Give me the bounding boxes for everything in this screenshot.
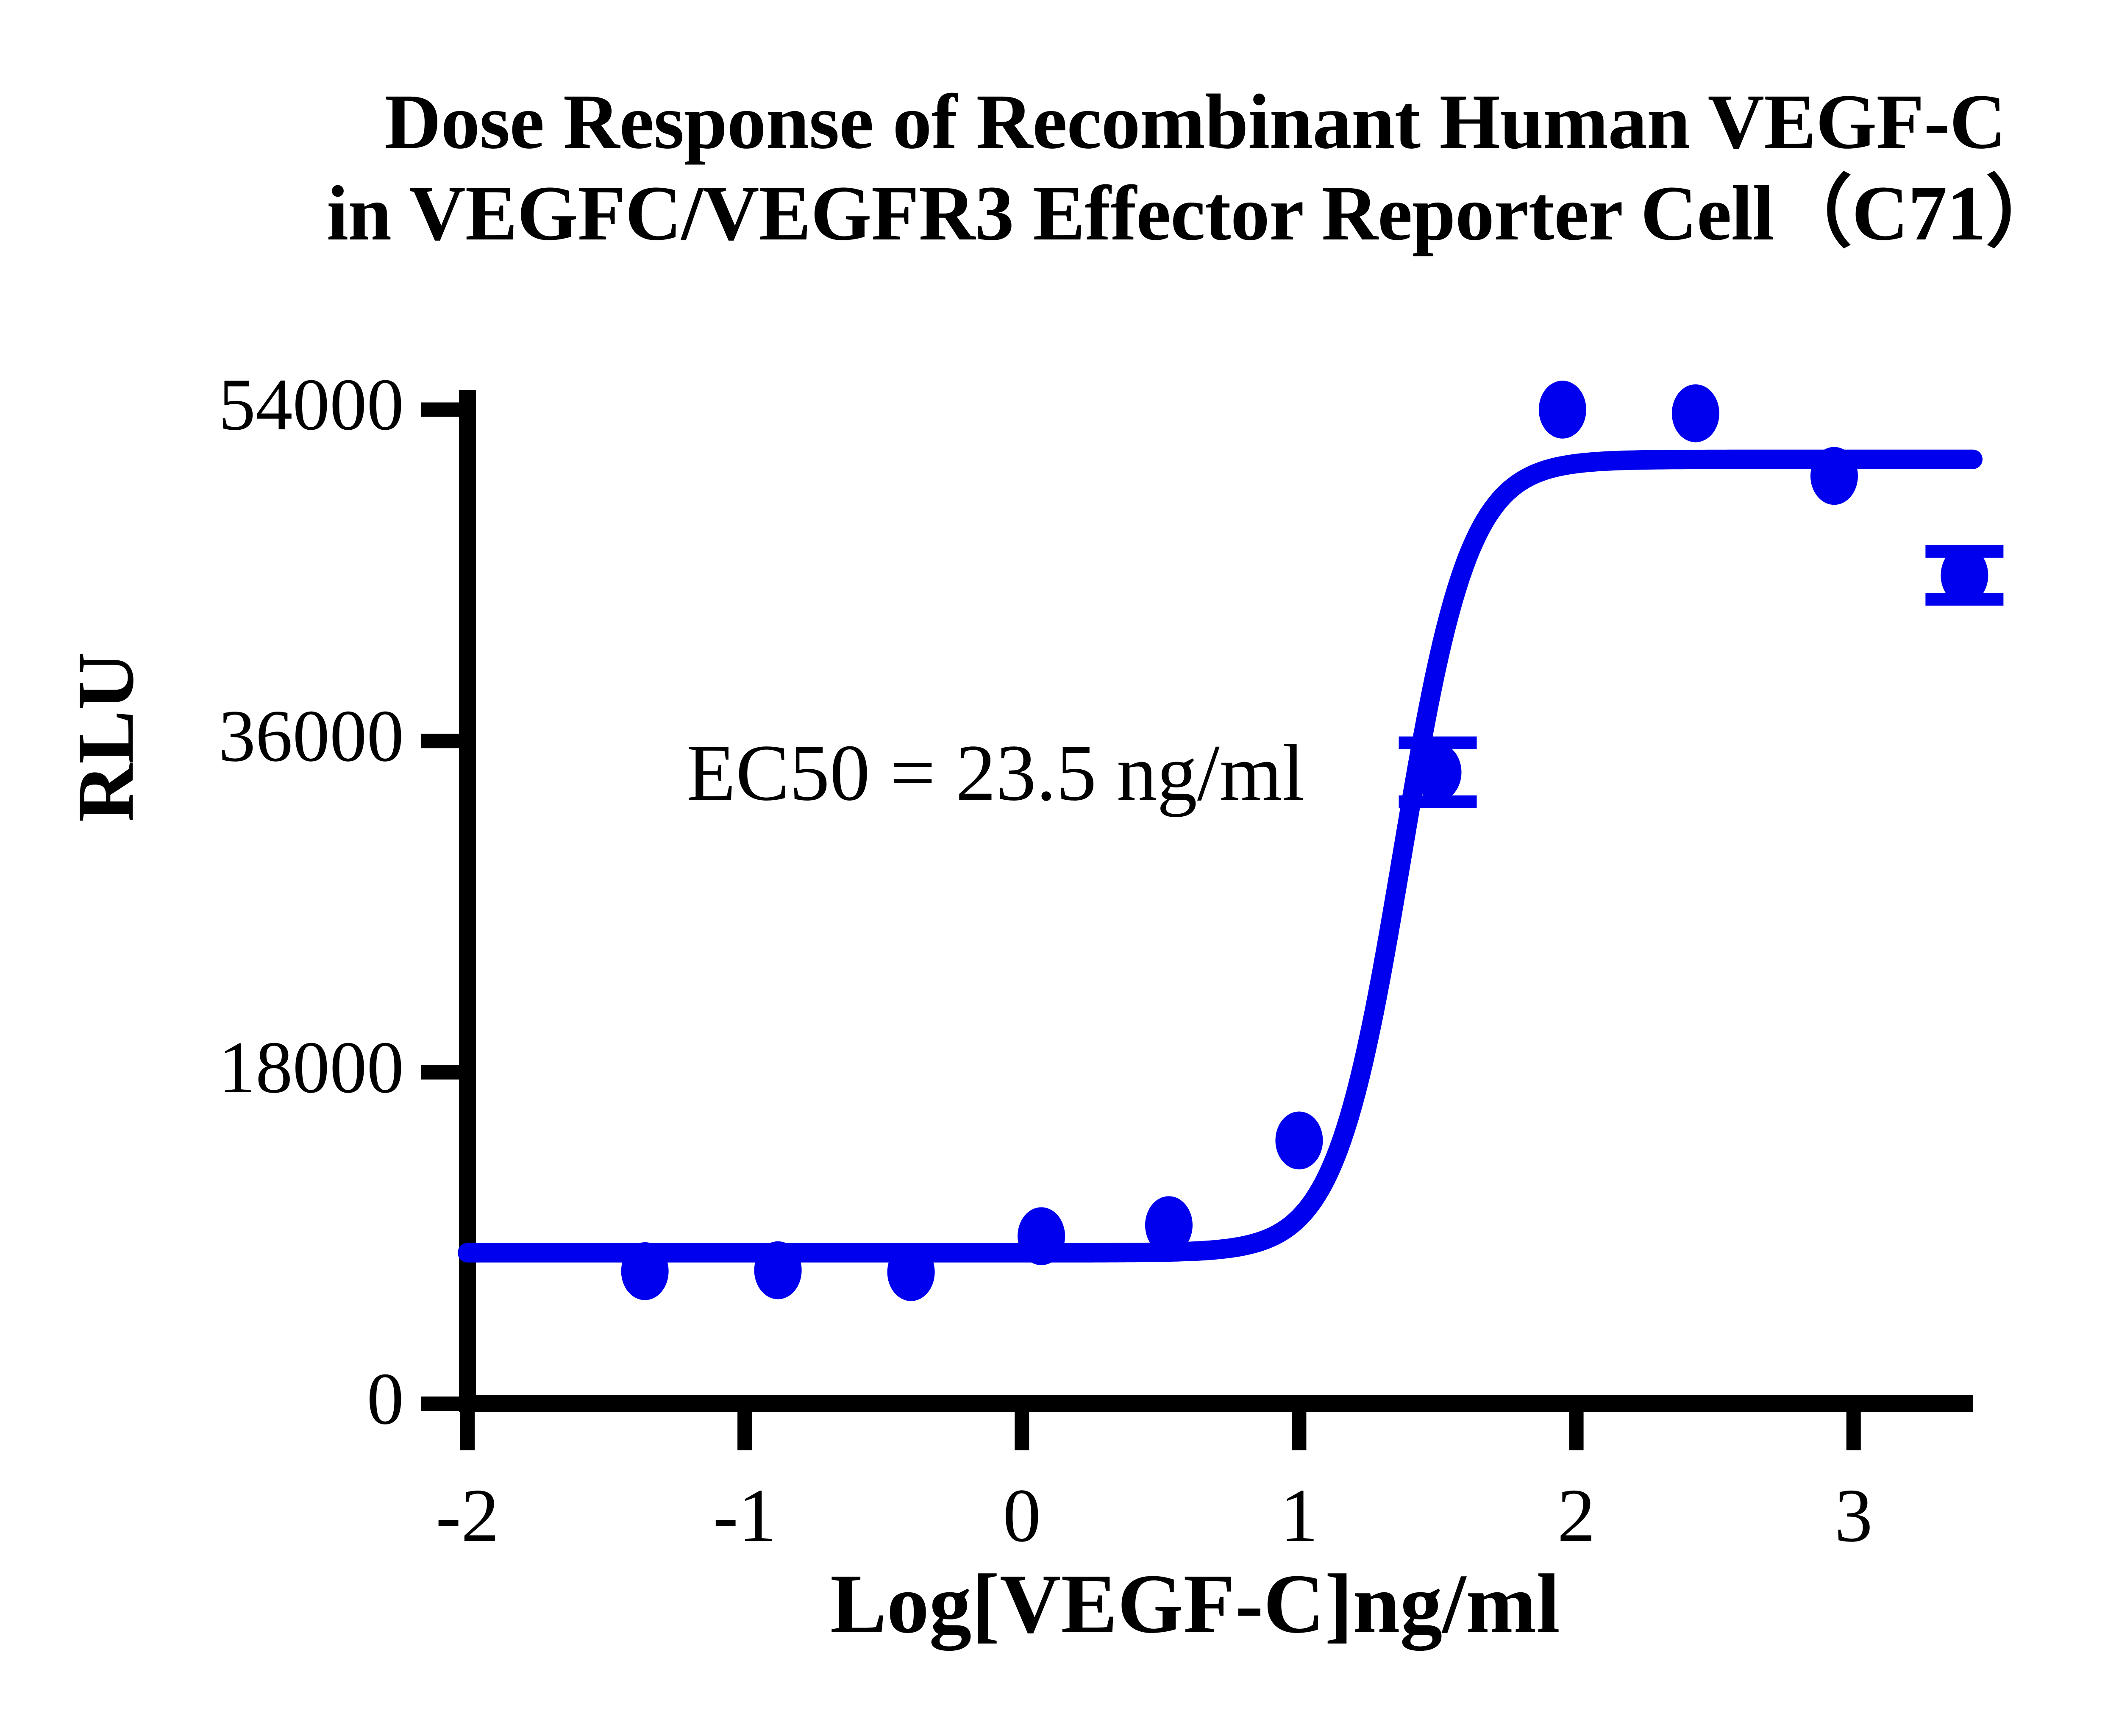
- data-point: [621, 1242, 669, 1300]
- data-point: [1539, 381, 1586, 439]
- data-point: [1810, 447, 1858, 505]
- data-point: [1145, 1196, 1193, 1254]
- data-point: [1672, 384, 1719, 442]
- data-point: [754, 1241, 802, 1299]
- chart-canvas: Dose Response of Recombinant Human VEGF-…: [0, 0, 2119, 1736]
- error-bars: [1399, 551, 2004, 802]
- plot-area: [0, 0, 2119, 1736]
- data-point: [1018, 1207, 1065, 1265]
- data-point: [1414, 743, 1462, 801]
- data-point: [1275, 1112, 1323, 1170]
- fit-curve: [467, 459, 1973, 1253]
- data-point: [887, 1243, 935, 1301]
- data-points: [621, 381, 1988, 1301]
- data-point: [1941, 546, 1988, 604]
